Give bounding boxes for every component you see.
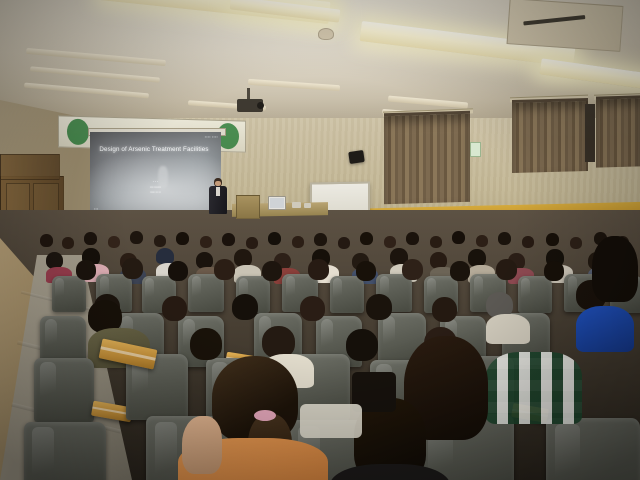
air-conditioning-vent: [507, 0, 624, 52]
projection-screen: Design of Arsenic Treatment Facilities °…: [90, 132, 221, 214]
slide-logo-top-right: ▪▪▪▪ ▪▪▪▪: [205, 135, 218, 139]
wall-sign: [470, 142, 481, 157]
desk-item: [304, 203, 311, 208]
window-curtain: [512, 98, 588, 173]
lecture-hall-photo: Design of Arsenic Treatment Facilities °…: [0, 0, 640, 480]
ceiling-dome-fixture: [318, 28, 334, 40]
desk-item: [292, 202, 301, 208]
white-item: [300, 404, 362, 438]
arm: [182, 416, 222, 474]
slide-subtitle-1: ° ° °: [90, 180, 221, 184]
laptop-monitor: [268, 196, 286, 210]
wall-speaker: [348, 150, 365, 164]
slide-subtitle-3: ▪▪▪▪ ▪▪ ▪▪: [90, 190, 221, 194]
window-gap: [585, 104, 595, 162]
screen-glow: [90, 132, 221, 214]
audience-row: [0, 258, 640, 288]
slide-title: Design of Arsenic Treatment Facilities: [96, 146, 212, 153]
hair-tie: [254, 410, 276, 421]
auditorium-seat[interactable]: [546, 418, 640, 480]
window-curtain: [384, 111, 470, 204]
window-curtain: [596, 95, 640, 167]
presenter-shirt: [216, 187, 220, 196]
slide-subtitle-2: ▪▪▪ ▪▪▪▪▪▪: [90, 185, 221, 189]
wooden-door-upper: [0, 154, 60, 180]
auditorium-seat[interactable]: [24, 422, 106, 480]
